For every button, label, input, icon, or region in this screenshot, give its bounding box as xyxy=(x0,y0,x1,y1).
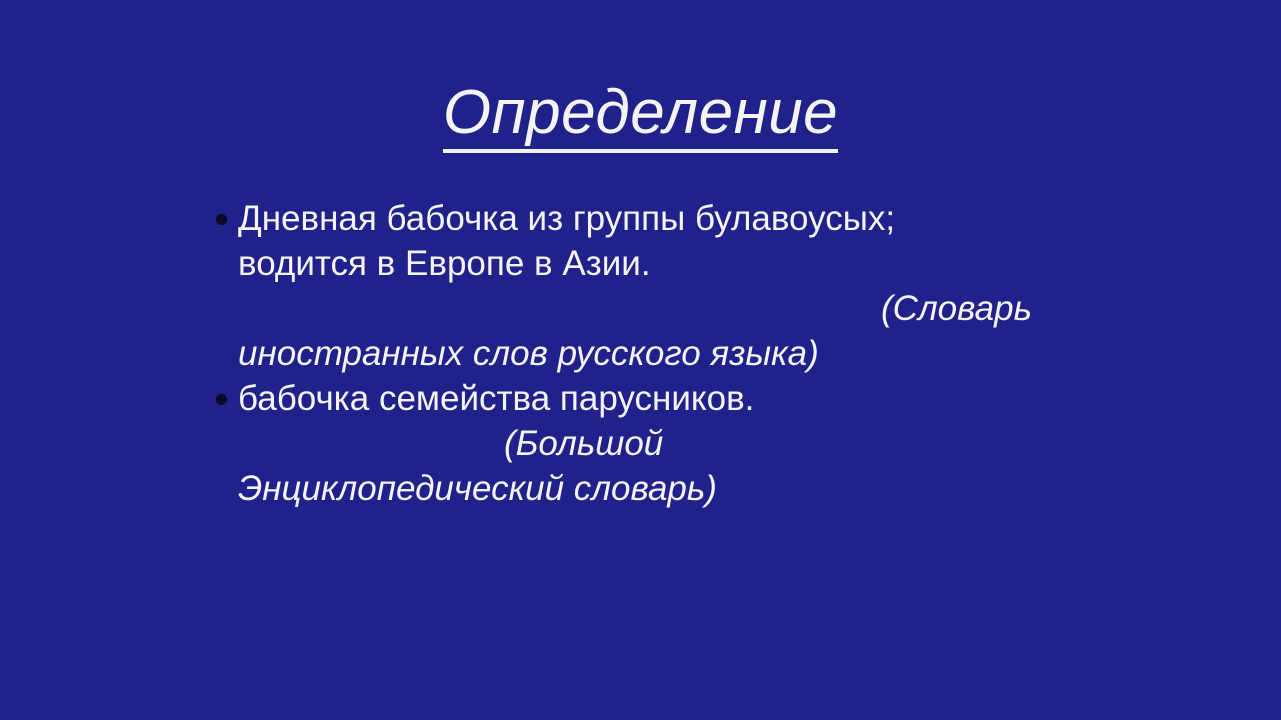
bullet-dot-icon xyxy=(216,214,227,225)
page-title: Определение xyxy=(443,80,838,153)
list-item-text: Дневная бабочка из группы булавоусых; во… xyxy=(238,196,1032,286)
bullet-dot-icon xyxy=(216,394,227,405)
citation: (Словарь иностранных слов русского языка… xyxy=(212,286,1032,376)
citation-line: (Словарь xyxy=(238,286,1032,331)
citation: (Большой Энциклопедический словарь) xyxy=(212,421,1032,511)
slide-title-block: Определение xyxy=(0,38,1281,194)
citation-line: иностранных слов русского языка) xyxy=(238,331,1032,376)
citation-line: Энциклопедический словарь) xyxy=(238,466,1032,511)
citation-line: (Большой xyxy=(238,421,1032,466)
list-item: бабочка семейства парусников. xyxy=(212,376,1032,421)
list-item-text: бабочка семейства парусников. xyxy=(238,376,1032,421)
list-item: Дневная бабочка из группы булавоусых; во… xyxy=(212,196,1032,286)
presentation-slide: Определение Дневная бабочка из группы бу… xyxy=(0,0,1281,720)
slide-body: Дневная бабочка из группы булавоусых; во… xyxy=(212,196,1032,511)
